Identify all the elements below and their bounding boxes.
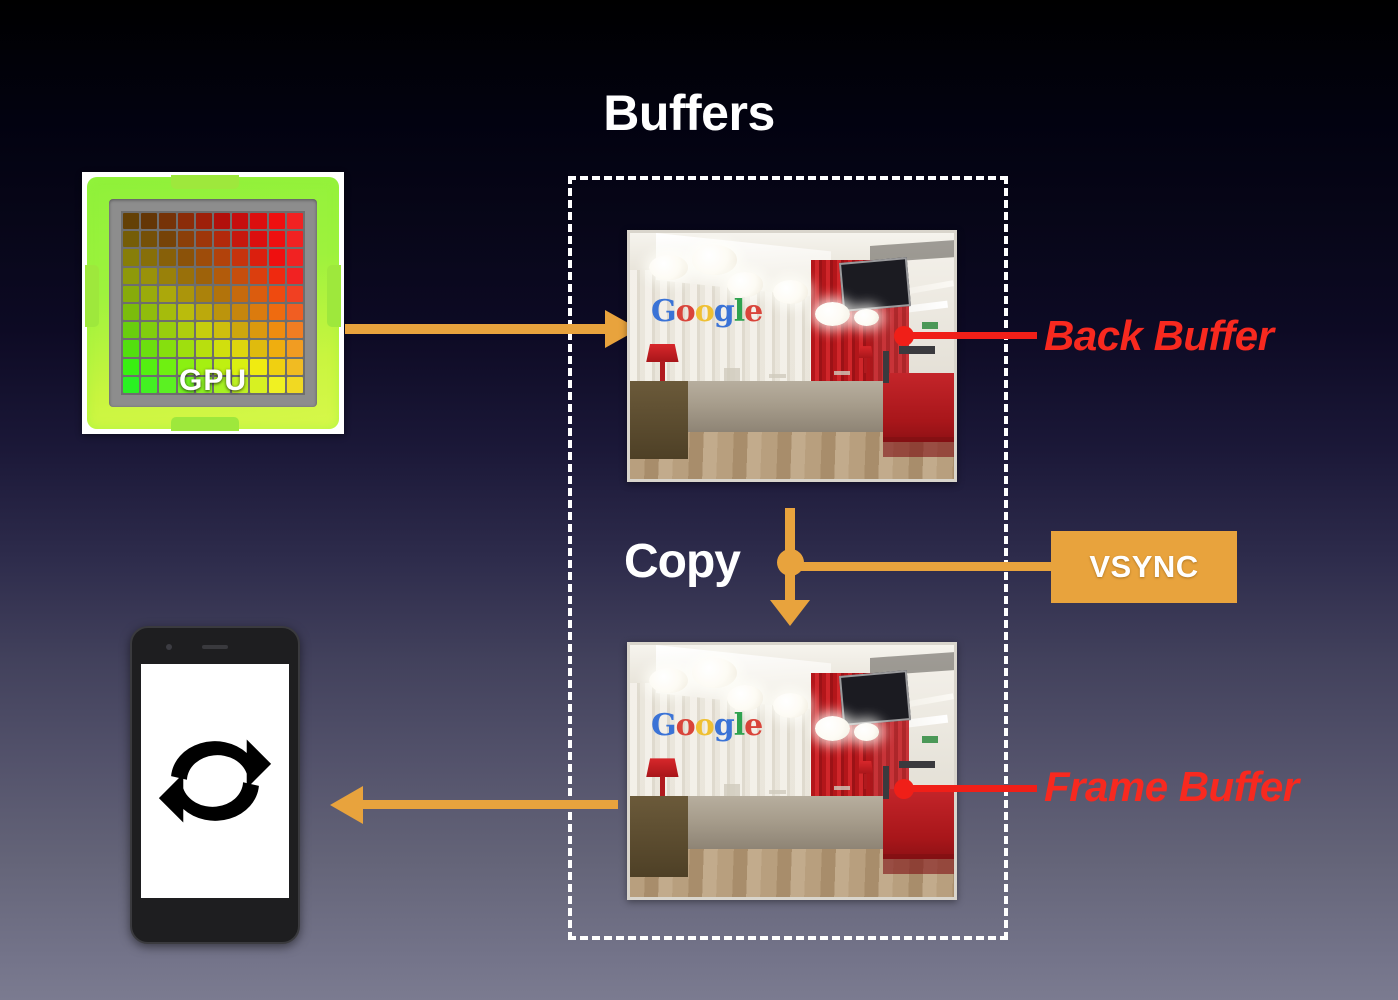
photo-desk-dark-end	[630, 796, 688, 877]
gpu-core-cell	[232, 304, 248, 320]
gpu-core-cell	[141, 231, 157, 247]
photo-desk-object	[724, 368, 740, 380]
gpu-core-cell	[250, 231, 266, 247]
gpu-core-cell	[232, 322, 248, 338]
gpu-substrate	[109, 199, 317, 407]
gpu-core-cell	[178, 377, 194, 393]
photo-google-logo: Google	[651, 711, 762, 741]
smartphone-display	[130, 626, 300, 944]
gpu-core-cell	[123, 377, 139, 393]
gpu-core-cell	[141, 268, 157, 284]
gpu-core-cell	[123, 231, 139, 247]
photo-shelf-items	[899, 346, 935, 353]
photo-scene-front: Google	[630, 645, 954, 897]
gpu-core-cell	[196, 213, 212, 229]
photo-table-lamp-shade	[646, 344, 678, 362]
gpu-core-cell	[159, 213, 175, 229]
gpu-core-cell	[214, 322, 230, 338]
photo-red-counter-shadow	[883, 437, 954, 457]
gpu-core-cell	[287, 231, 303, 247]
back-buffer-image: Google	[627, 230, 957, 482]
gpu-core-cell	[141, 377, 157, 393]
gpu-core-cell	[269, 286, 285, 302]
gpu-core-cell	[287, 249, 303, 265]
gpu-core-cell	[214, 213, 230, 229]
gpu-core-cell	[178, 322, 194, 338]
gpu-core-cell	[159, 340, 175, 356]
photo-red-counter	[883, 373, 954, 442]
gpu-core-cell	[269, 304, 285, 320]
gpu-core-cell	[141, 304, 157, 320]
photo-google-logo-letter: l	[734, 294, 744, 329]
photo-google-logo-letter: o	[695, 708, 714, 743]
gpu-core-cell	[287, 213, 303, 229]
gpu-core-cell	[250, 340, 266, 356]
gpu-core-cell	[232, 286, 248, 302]
photo-second-lamp-stem	[864, 358, 867, 373]
gpu-core-cell	[269, 231, 285, 247]
gpu-core-cell	[123, 322, 139, 338]
photo-pendant-light	[649, 668, 688, 693]
vsync-label: VSYNC	[1089, 549, 1198, 585]
gpu-core-cell	[159, 249, 175, 265]
photo-pendant-light	[773, 693, 809, 718]
vsync-box: VSYNC	[1051, 531, 1237, 603]
gpu-notch-top	[171, 175, 239, 189]
gpu-core-cell	[196, 340, 212, 356]
gpu-core-cell	[196, 231, 212, 247]
gpu-core-cell	[159, 231, 175, 247]
photo-google-logo-letter: e	[744, 294, 762, 329]
gpu-notch-left	[85, 265, 99, 327]
gpu-core-cell	[123, 268, 139, 284]
photo-google-logo-letter: g	[714, 294, 734, 329]
arrow-copy-head	[770, 600, 810, 626]
gpu-core-grid	[121, 211, 305, 395]
page-title: Buffers	[0, 84, 1398, 142]
gpu-notch-bottom	[171, 417, 239, 431]
vsync-junction-dot	[777, 549, 804, 576]
photo-exit-sign	[922, 322, 938, 329]
photo-dark-panel	[883, 766, 889, 799]
gpu-core-cell	[141, 322, 157, 338]
gpu-core-cell	[123, 340, 139, 356]
gpu-core-cell	[214, 249, 230, 265]
gpu-core-cell	[269, 359, 285, 375]
gpu-core-cell	[287, 322, 303, 338]
photo-google-logo-letter: o	[676, 294, 695, 329]
gpu-core-cell	[269, 340, 285, 356]
gpu-core-cell	[250, 268, 266, 284]
photo-red-counter	[883, 789, 954, 860]
phone-speaker-grille	[202, 645, 228, 649]
arrow-frame-buffer-to-phone	[360, 800, 618, 809]
gpu-core-cell	[214, 268, 230, 284]
arrow-frame-buffer-to-phone-head	[330, 786, 363, 824]
gpu-core-cell	[232, 268, 248, 284]
frame-buffer-image: Google	[627, 642, 957, 900]
refresh-sync-icon	[154, 720, 276, 842]
gpu-core-cell	[214, 359, 230, 375]
gpu-core-cell	[214, 304, 230, 320]
arrow-gpu-to-back-buffer	[345, 324, 613, 334]
gpu-core-cell	[178, 359, 194, 375]
photo-dark-panel	[883, 351, 889, 383]
gpu-core-cell	[269, 322, 285, 338]
photo-pendant-light	[649, 255, 688, 280]
gpu-core-cell	[178, 249, 194, 265]
gpu-core-cell	[269, 213, 285, 229]
gpu-core-cell	[287, 377, 303, 393]
photo-second-table-lamp	[858, 761, 873, 774]
phone-front-camera-icon	[166, 644, 172, 650]
photo-pendant-light	[692, 245, 737, 275]
gpu-core-cell	[232, 249, 248, 265]
photo-desk-tray-2	[834, 371, 850, 375]
gpu-core-cell	[287, 340, 303, 356]
gpu-core-cell	[141, 286, 157, 302]
gpu-core-cell	[159, 304, 175, 320]
gpu-core-cell	[250, 286, 266, 302]
gpu-core-cell	[159, 322, 175, 338]
photo-wall-monitor	[839, 257, 911, 312]
gpu-core-cell	[178, 304, 194, 320]
gpu-core-cell	[159, 377, 175, 393]
photo-google-logo-letter: o	[676, 708, 695, 743]
photo-pendant-light	[854, 723, 880, 741]
photo-desk-tray	[769, 374, 785, 378]
photo-google-logo: Google	[651, 297, 762, 327]
photo-google-logo-letter: o	[695, 294, 714, 329]
photo-pendant-light	[815, 716, 851, 741]
gpu-core-cell	[269, 249, 285, 265]
gpu-core-cell	[287, 268, 303, 284]
gpu-core-cell	[141, 213, 157, 229]
gpu-core-cell	[214, 377, 230, 393]
photo-desk-object	[724, 784, 740, 797]
gpu-core-cell	[232, 213, 248, 229]
gpu-core-cell	[141, 340, 157, 356]
phone-screen	[141, 664, 289, 898]
gpu-notch-right	[327, 265, 341, 327]
gpu-core-cell	[196, 377, 212, 393]
photo-desk-tray	[769, 790, 785, 794]
gpu-core-cell	[196, 268, 212, 284]
gpu-core-cell	[287, 304, 303, 320]
photo-desk-dark-end	[630, 381, 688, 460]
gpu-core-cell	[250, 304, 266, 320]
photo-google-logo-letter: G	[651, 294, 676, 329]
photo-google-logo-letter: e	[744, 708, 762, 743]
page-title-text: Buffers	[603, 85, 775, 141]
photo-wall-monitor	[839, 670, 911, 726]
slide-canvas: Buffers GPU Google Back Buffer Copy VSYN…	[0, 0, 1398, 1000]
photo-scene-back: Google	[630, 233, 954, 479]
gpu-core-cell	[196, 304, 212, 320]
gpu-package	[87, 177, 339, 429]
gpu-core-cell	[232, 231, 248, 247]
photo-table-lamp-shade	[646, 758, 678, 777]
gpu-core-cell	[123, 359, 139, 375]
photo-second-table-lamp	[858, 346, 873, 358]
back-buffer-callout-line	[903, 332, 1037, 339]
gpu-core-cell	[159, 286, 175, 302]
gpu-core-cell	[232, 340, 248, 356]
gpu-core-cell	[178, 213, 194, 229]
gpu-core-cell	[123, 213, 139, 229]
gpu-core-cell	[287, 359, 303, 375]
photo-red-counter-shadow	[883, 854, 954, 874]
gpu-core-cell	[196, 359, 212, 375]
photo-google-logo-letter: g	[714, 708, 734, 743]
gpu-core-cell	[269, 268, 285, 284]
gpu-core-cell	[141, 249, 157, 265]
gpu-core-cell	[196, 322, 212, 338]
photo-google-logo-letter: l	[734, 708, 744, 743]
copy-label: Copy	[624, 534, 740, 589]
gpu-core-cell	[250, 377, 266, 393]
frame-buffer-callout-line	[903, 785, 1037, 792]
gpu-core-cell	[269, 377, 285, 393]
gpu-core-cell	[287, 286, 303, 302]
gpu-core-cell	[178, 231, 194, 247]
photo-google-logo-letter: G	[651, 708, 676, 743]
gpu-core-cell	[123, 286, 139, 302]
vsync-connector-line	[790, 562, 1058, 571]
gpu-core-cell	[178, 340, 194, 356]
back-buffer-label: Back Buffer	[1044, 312, 1273, 360]
photo-exit-sign	[922, 736, 938, 744]
gpu-core-cell	[250, 249, 266, 265]
gpu-core-cell	[250, 322, 266, 338]
gpu-core-cell	[214, 340, 230, 356]
photo-shelf-items	[899, 761, 935, 769]
gpu-core-cell	[196, 249, 212, 265]
gpu-core-cell	[250, 213, 266, 229]
gpu-core-cell	[232, 359, 248, 375]
gpu-core-cell	[141, 359, 157, 375]
gpu-core-cell	[196, 286, 212, 302]
gpu-core-cell	[123, 249, 139, 265]
gpu-core-cell	[159, 268, 175, 284]
gpu-core-cell	[250, 359, 266, 375]
gpu-core-cell	[178, 268, 194, 284]
gpu-core-cell	[214, 286, 230, 302]
frame-buffer-label: Frame Buffer	[1044, 763, 1299, 811]
gpu-core-cell	[232, 377, 248, 393]
photo-second-lamp-stem	[864, 774, 867, 789]
photo-pendant-light	[692, 658, 737, 688]
gpu-core-cell	[159, 359, 175, 375]
gpu-core-cell	[214, 231, 230, 247]
photo-desk-tray-2	[834, 786, 850, 790]
gpu-chip: GPU	[82, 172, 344, 434]
gpu-core-cell	[123, 304, 139, 320]
gpu-core-cell	[178, 286, 194, 302]
